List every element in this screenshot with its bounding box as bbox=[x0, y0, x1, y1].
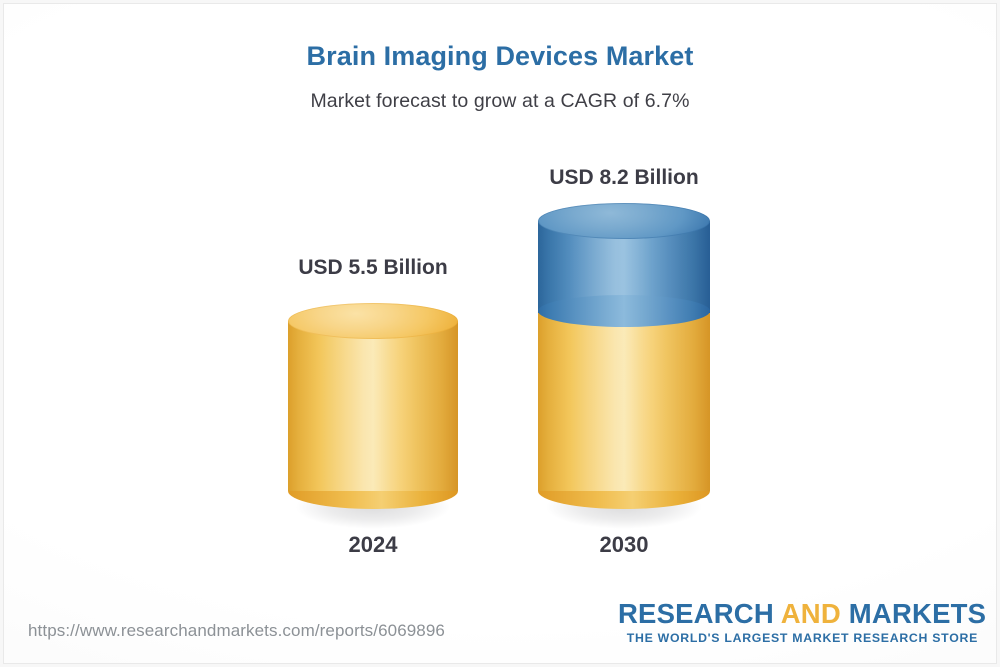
bar-2030-cap bbox=[538, 203, 710, 239]
value-label-2030: USD 8.2 Billion bbox=[499, 166, 749, 190]
bar-2024-lower-body bbox=[288, 403, 458, 491]
brand-logo: RESEARCH AND MARKETS THE WORLD'S LARGEST… bbox=[618, 600, 978, 645]
bar-2030-lower-wall bbox=[538, 403, 710, 491]
brand-tagline: THE WORLD'S LARGEST MARKET RESEARCH STOR… bbox=[618, 631, 978, 645]
brand-name-markets: MARKETS bbox=[841, 598, 986, 629]
brand-name-and: AND bbox=[781, 598, 841, 629]
chart-figure: Brain Imaging Devices Market Market fore… bbox=[0, 0, 1000, 667]
brand-name-research: RESEARCH bbox=[618, 598, 781, 629]
category-label-2030: 2030 bbox=[499, 532, 749, 558]
bar-2030-lower-body bbox=[538, 403, 710, 491]
brand-name: RESEARCH AND MARKETS bbox=[618, 600, 978, 629]
category-label-2024: 2024 bbox=[248, 532, 498, 558]
bar-2030-blue-foot bbox=[538, 295, 710, 327]
bar-2024-lower-wall bbox=[288, 403, 458, 491]
bar-2024-cap bbox=[288, 303, 458, 339]
source-url[interactable]: https://www.researchandmarkets.com/repor… bbox=[28, 621, 445, 641]
chart-subtitle: Market forecast to grow at a CAGR of 6.7… bbox=[0, 90, 1000, 113]
bar-2030 bbox=[538, 203, 710, 508]
value-label-2024: USD 5.5 Billion bbox=[248, 256, 498, 280]
bar-2024 bbox=[288, 303, 458, 508]
chart-title: Brain Imaging Devices Market bbox=[0, 41, 1000, 72]
